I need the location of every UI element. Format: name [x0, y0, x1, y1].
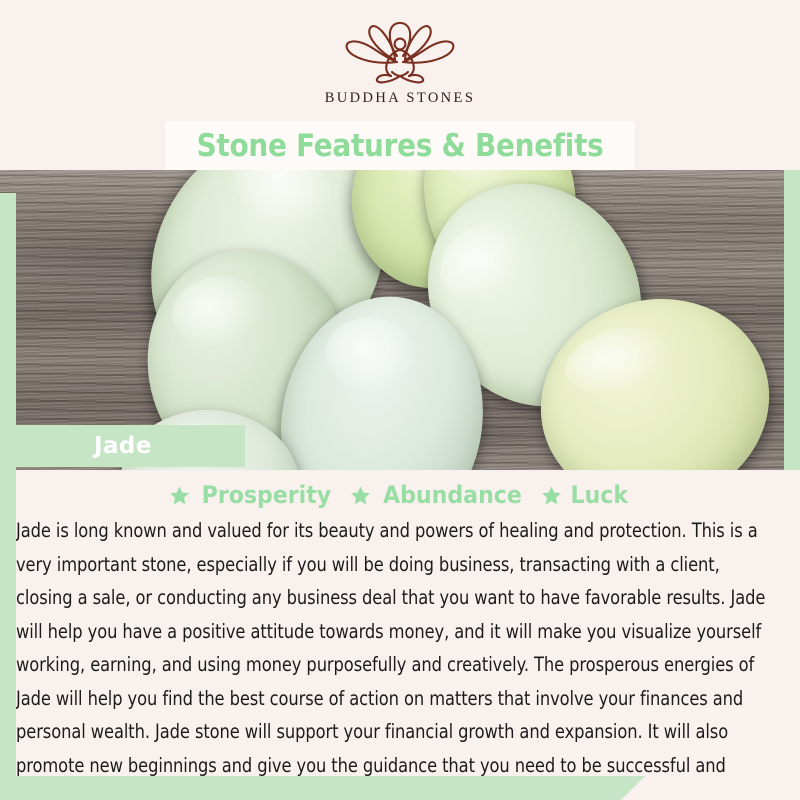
- star-icon: [169, 485, 190, 506]
- star-icon: [541, 485, 562, 506]
- infographic-card: BUDDHA STONES Stone Features & Benefits …: [0, 0, 800, 800]
- frame-accent-left: [0, 193, 16, 783]
- benefit-item: Abundance: [350, 481, 528, 509]
- lotus-meditation-icon: [335, 22, 465, 84]
- frame-accent-right: [784, 170, 800, 470]
- benefits-row: Prosperity Abundance Luck: [16, 478, 784, 512]
- benefit-item: Prosperity: [169, 481, 337, 509]
- frame-accent-bottom: [0, 776, 645, 800]
- benefit-label: Abundance: [383, 481, 522, 509]
- page-title: Stone Features & Benefits: [197, 128, 604, 164]
- brand-header: BUDDHA STONES: [0, 0, 800, 120]
- benefit-label: Prosperity: [202, 481, 332, 509]
- title-banner: Stone Features & Benefits: [165, 121, 635, 170]
- benefit-item: Luck: [541, 481, 631, 509]
- stone-name-badge: Jade: [16, 425, 245, 467]
- stone-description: Jade is long known and valued for its be…: [16, 514, 782, 800]
- stone-name-label: Jade: [94, 433, 152, 459]
- benefit-label: Luck: [571, 481, 629, 509]
- brand-name: BUDDHA STONES: [325, 90, 476, 107]
- star-icon: [350, 485, 371, 506]
- content-panel: Prosperity Abundance Luck Jade is long k…: [16, 470, 784, 776]
